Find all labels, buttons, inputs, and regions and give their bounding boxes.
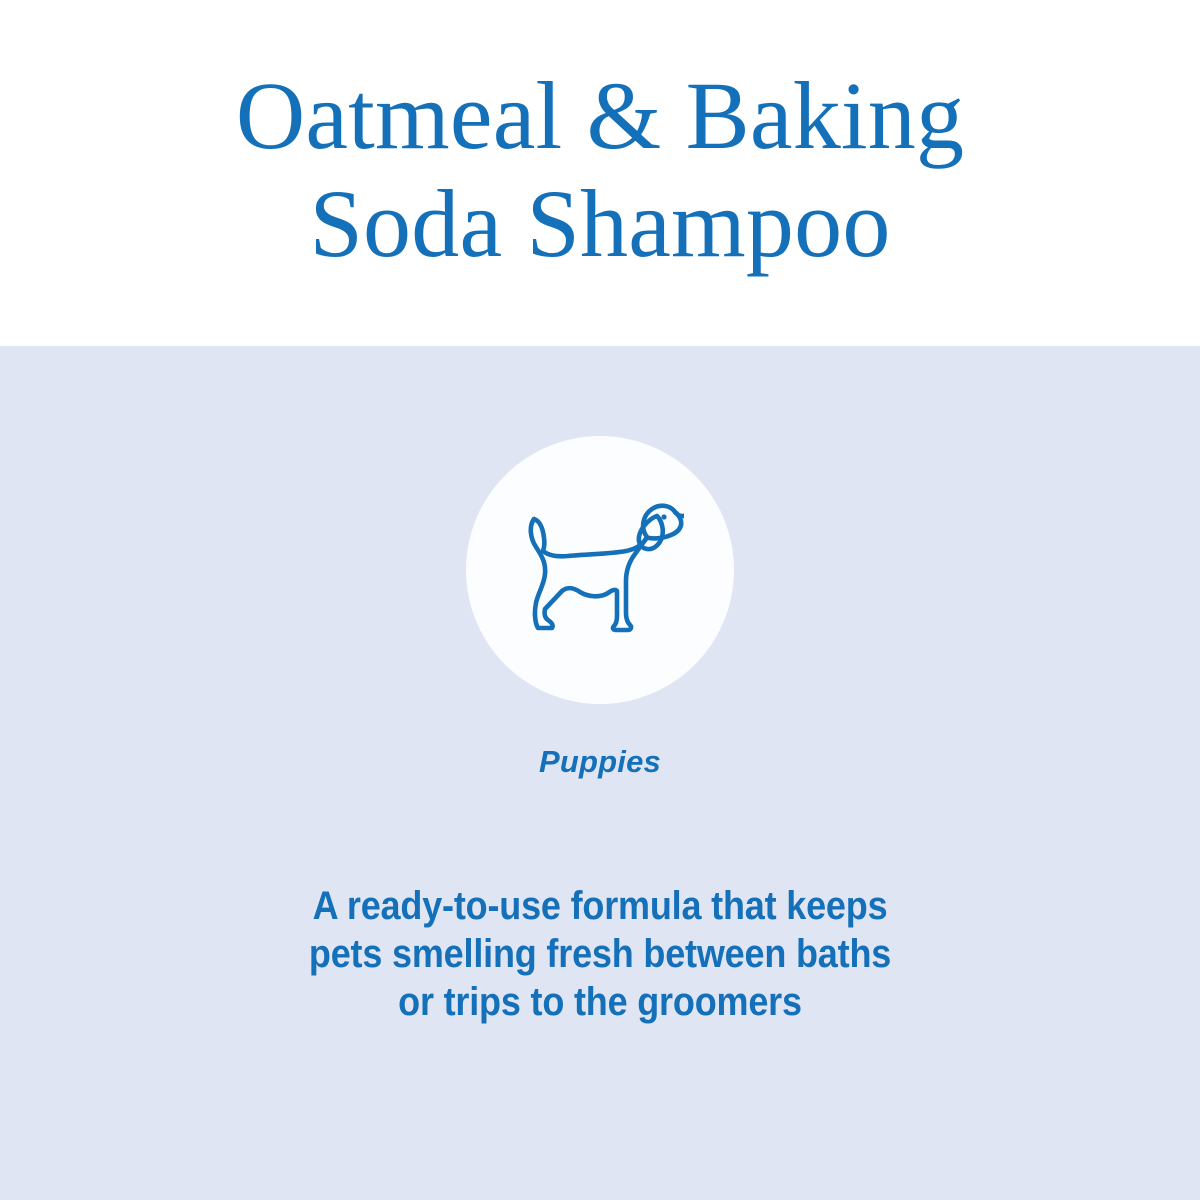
- description-line-1: A ready-to-use formula that keeps: [60, 882, 1140, 930]
- page-title-line-1: Oatmeal & Baking: [140, 62, 1060, 170]
- dog-icon: [516, 495, 684, 645]
- description-line-2: pets smelling fresh between baths: [60, 930, 1140, 978]
- page-title: Oatmeal & Baking Soda Shampoo: [140, 62, 1060, 277]
- feature-panel: Puppies A ready-to-use formula that keep…: [0, 346, 1200, 1200]
- page-title-line-2: Soda Shampoo: [140, 170, 1060, 278]
- product-info-panel: Oatmeal & Baking Soda Shampoo: [0, 0, 1200, 1200]
- title-band: Oatmeal & Baking Soda Shampoo: [0, 0, 1200, 346]
- category-label: Puppies: [0, 744, 1200, 780]
- dog-icon-badge: [466, 436, 734, 704]
- description-line-3: or trips to the groomers: [60, 978, 1140, 1026]
- description-text: A ready-to-use formula that keeps pets s…: [0, 882, 1200, 1026]
